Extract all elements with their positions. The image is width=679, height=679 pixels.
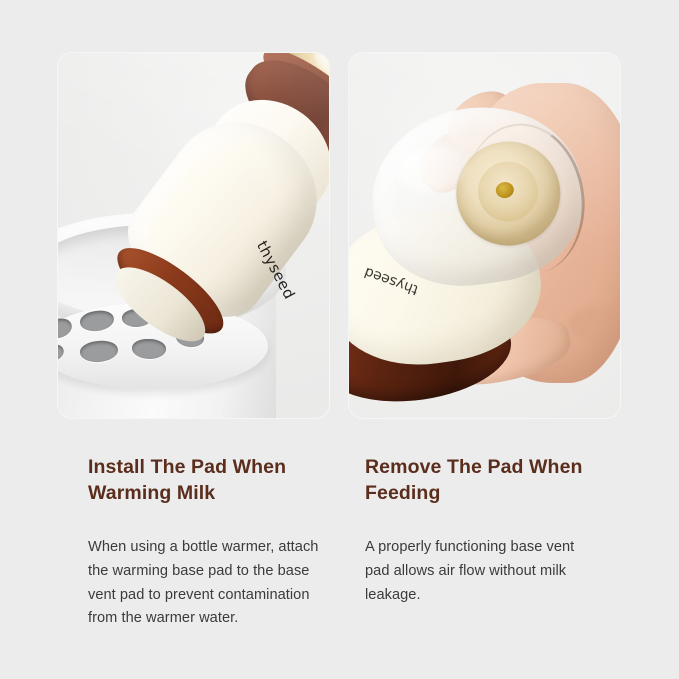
basket-hole bbox=[79, 339, 119, 363]
photo-panel-row: thyseed bbox=[0, 0, 679, 440]
caption-heading-install: Install The Pad When Warming Milk bbox=[88, 455, 338, 506]
basket-hole bbox=[58, 316, 74, 341]
caption-heading-remove: Remove The Pad When Feeding bbox=[365, 455, 605, 506]
caption-body-remove: A properly functioning base vent pad all… bbox=[365, 536, 589, 607]
feeding-scene: thyseed bbox=[349, 53, 620, 418]
caption-body-install: When using a bottle warmer, attach the w… bbox=[88, 536, 324, 631]
baby-bottle-base-view: thyseed bbox=[349, 93, 613, 394]
caption-column-install: Install The Pad When Warming Milk When u… bbox=[88, 455, 338, 631]
product-feature-page: thyseed bbox=[0, 0, 679, 679]
panel-remove-pad-photo: thyseed bbox=[349, 53, 620, 418]
caption-column-remove: Remove The Pad When Feeding A properly f… bbox=[365, 455, 615, 607]
warmer-scene: thyseed bbox=[58, 53, 329, 418]
panel-install-pad-photo: thyseed bbox=[58, 53, 329, 418]
basket-hole bbox=[58, 342, 66, 366]
